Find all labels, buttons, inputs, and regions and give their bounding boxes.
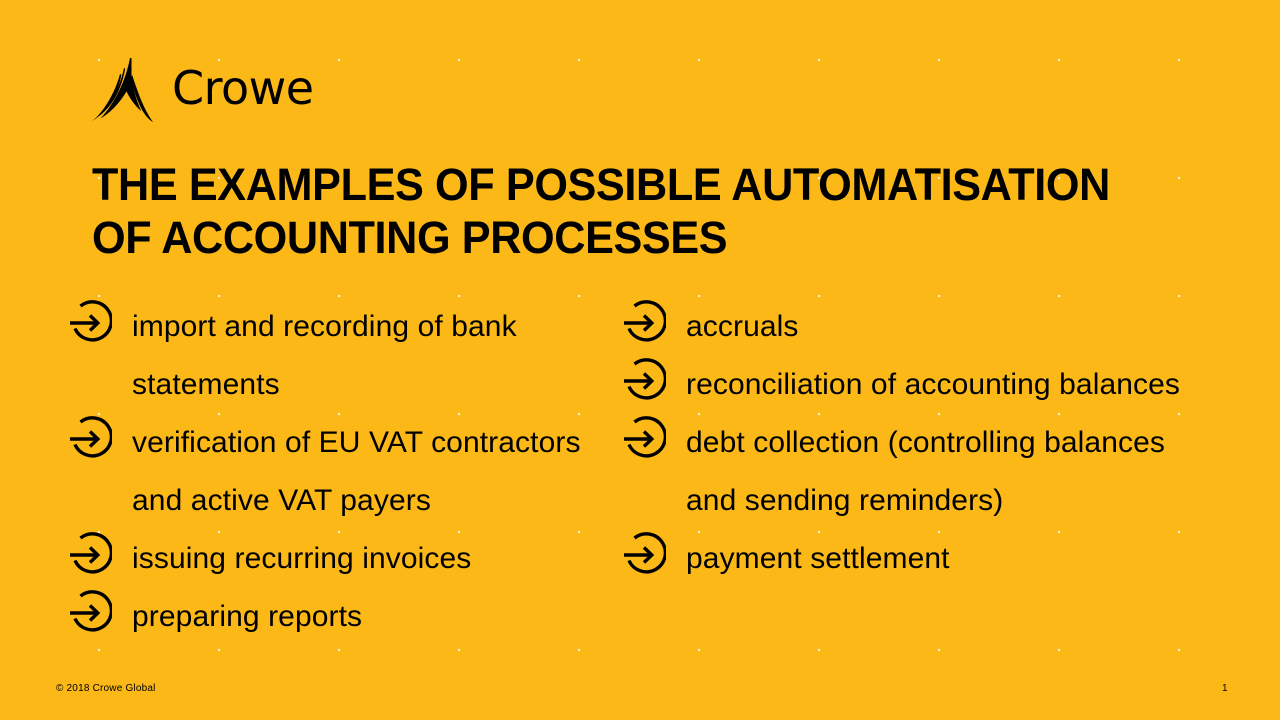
circle-arrow-right-icon <box>620 358 666 404</box>
crowe-wordmark: Crowe <box>172 65 314 111</box>
circle-arrow-right-icon <box>66 532 112 578</box>
list-item-label: debt collection (controlling balances an… <box>686 414 1220 530</box>
crowe-mountain-mark <box>90 55 162 123</box>
list-item: verification of EU VAT contractors and a… <box>66 414 626 530</box>
bullet-column-left: import and recording of bank statements … <box>66 298 626 646</box>
slide-title: THE EXAMPLES OF POSSIBLE AUTOMATISATION … <box>92 158 1158 264</box>
footer-copyright: © 2018 Crowe Global <box>56 683 156 694</box>
list-item: preparing reports <box>66 588 626 646</box>
bullet-column-right: accruals reconciliation of accounting ba… <box>620 298 1220 588</box>
circle-arrow-right-icon <box>66 300 112 346</box>
list-item: debt collection (controlling balances an… <box>620 414 1220 530</box>
list-item: payment settlement <box>620 530 1220 588</box>
circle-arrow-right-icon <box>620 300 666 346</box>
list-item: reconciliation of accounting balances <box>620 356 1220 414</box>
circle-arrow-right-icon <box>66 590 112 636</box>
list-item-label: reconciliation of accounting balances <box>686 356 1180 414</box>
list-item-label: verification of EU VAT contractors and a… <box>132 414 626 530</box>
circle-arrow-right-icon <box>620 416 666 462</box>
list-item: issuing recurring invoices <box>66 530 626 588</box>
list-item-label: payment settlement <box>686 530 950 588</box>
list-item-label: accruals <box>686 298 799 356</box>
list-item: accruals <box>620 298 1220 356</box>
list-item-label: issuing recurring invoices <box>132 530 471 588</box>
list-item: import and recording of bank statements <box>66 298 626 414</box>
list-item-label: import and recording of bank statements <box>132 298 626 414</box>
list-item-label: preparing reports <box>132 588 362 646</box>
page-number: 1 <box>1222 683 1228 694</box>
circle-arrow-right-icon <box>620 532 666 578</box>
slide-canvas: Crowe THE EXAMPLES OF POSSIBLE AUTOMATIS… <box>0 0 1280 720</box>
crowe-logo: Crowe <box>90 54 320 124</box>
circle-arrow-right-icon <box>66 416 112 462</box>
